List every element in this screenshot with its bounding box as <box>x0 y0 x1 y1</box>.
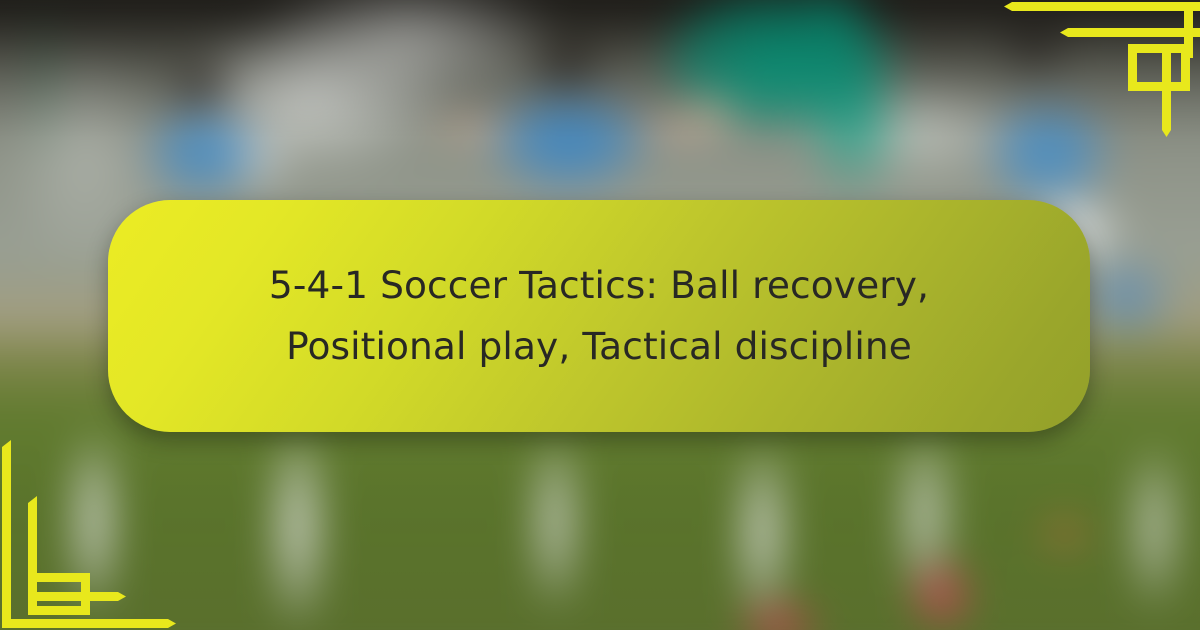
page-title: 5-4-1 Soccer Tactics: Ball recovery, Pos… <box>189 255 1009 377</box>
corner-frame-top-right-icon <box>990 0 1200 150</box>
share-card-canvas: 5-4-1 Soccer Tactics: Ball recovery, Pos… <box>0 0 1200 630</box>
title-card: 5-4-1 Soccer Tactics: Ball recovery, Pos… <box>108 200 1090 432</box>
corner-frame-bottom-left <box>0 430 210 630</box>
corner-frame-top-right <box>990 0 1200 150</box>
corner-frame-bottom-left-icon <box>0 430 210 630</box>
